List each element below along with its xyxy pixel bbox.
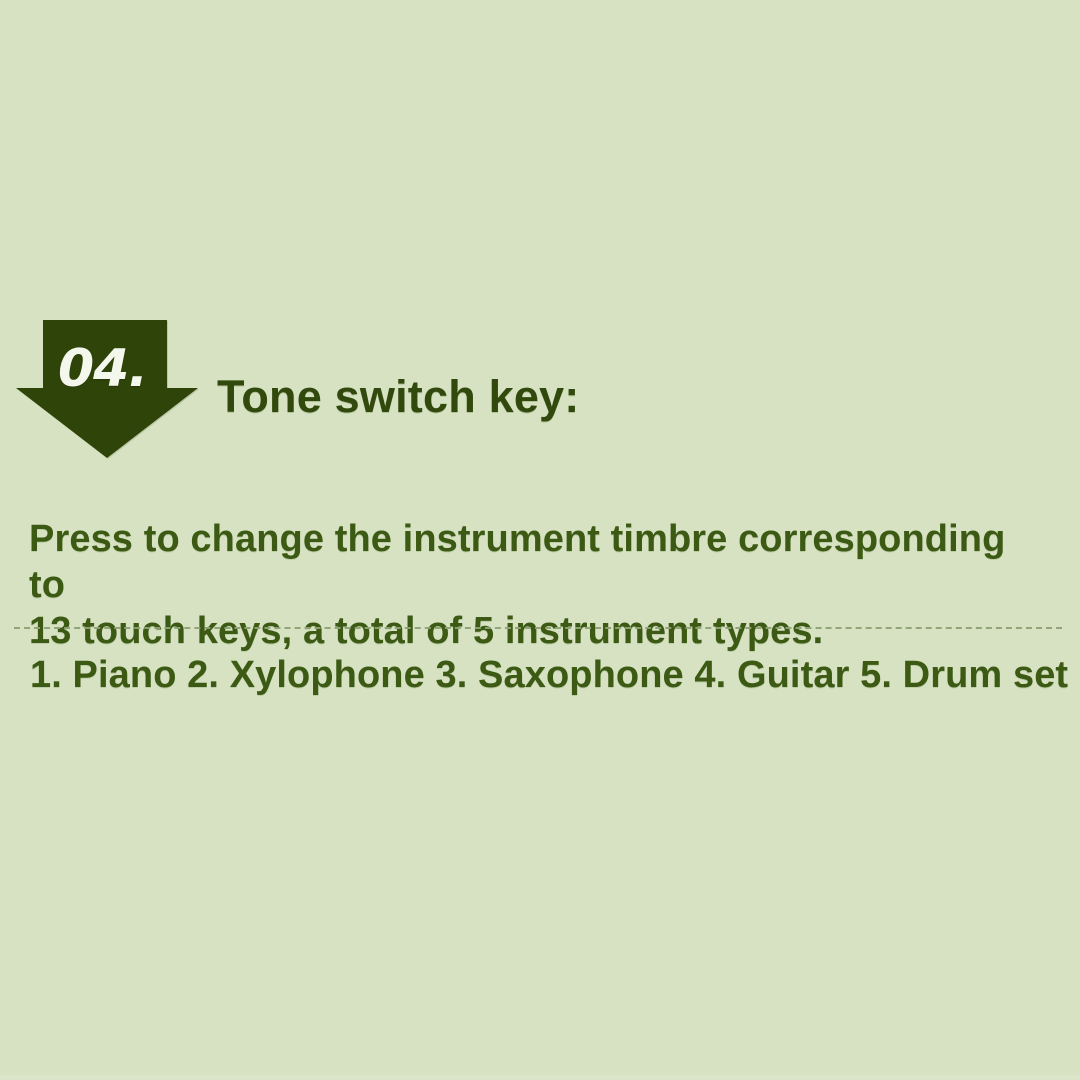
dashed-divider [14, 627, 1062, 629]
step-description-line-1: Press to change the instrument timbre co… [29, 516, 1039, 608]
page-title: Tone switch key: [217, 374, 579, 419]
down-arrow-icon [16, 320, 198, 458]
step-header: 04. Tone switch key: [0, 312, 1080, 457]
step-description-line-2: 13 touch keys, a total of 5 instrument t… [29, 608, 1039, 654]
instruction-slide: 04. Tone switch key: Press to change the… [0, 0, 1080, 1080]
bottom-edge-artifact [0, 1073, 1080, 1080]
instrument-list: 1. Piano 2. Xylophone 3. Saxophone 4. Gu… [30, 652, 1060, 698]
step-description: Press to change the instrument timbre co… [29, 516, 1039, 654]
